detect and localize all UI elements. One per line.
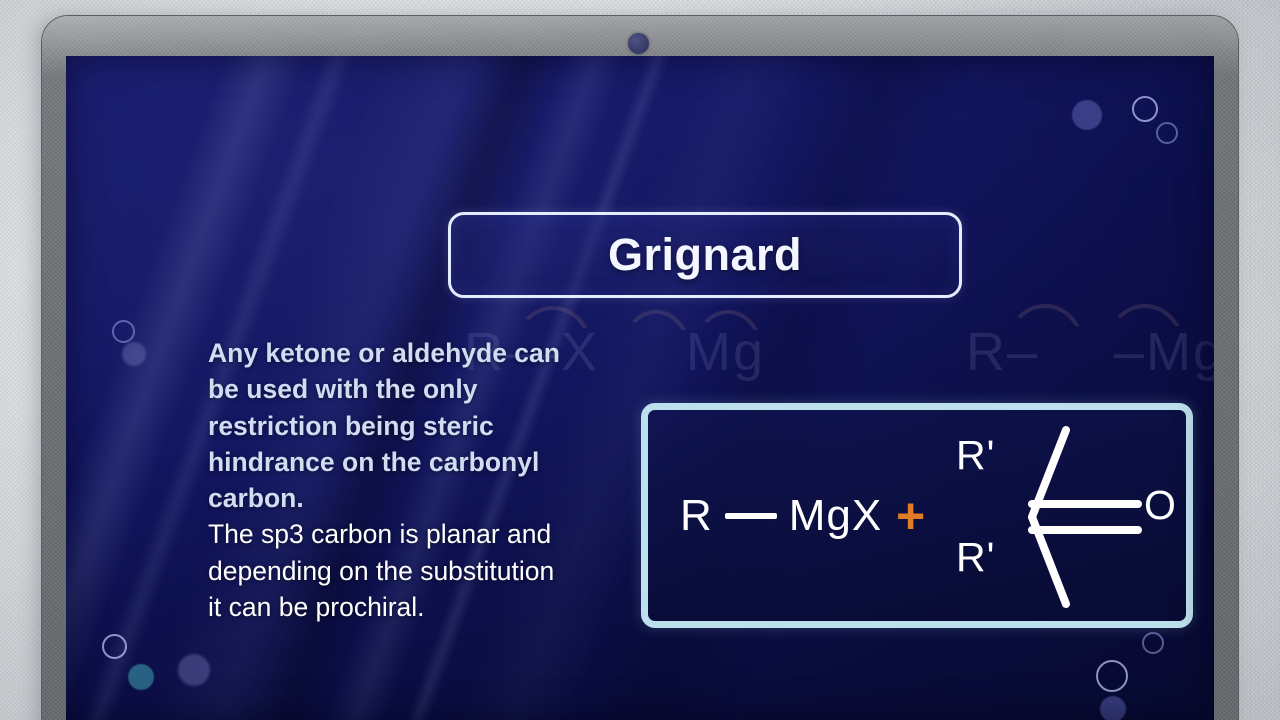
presentation-screen: R—X Mg R– –Mg Grignard Any ketone or ald… — [66, 56, 1214, 720]
substituent-bottom-label: R' — [956, 534, 995, 581]
reagent-r-label: R — [680, 491, 713, 541]
decor-circle-3 — [178, 654, 210, 686]
slide-screenshot: R—X Mg R– –Mg Grignard Any ketone or ald… — [0, 0, 1280, 720]
plus-sign: + — [896, 491, 925, 541]
decor-circle-2 — [122, 342, 146, 366]
grignard-reagent: R MgX — [680, 491, 882, 541]
decor-ring-2 — [1156, 122, 1178, 144]
webcam-icon — [628, 33, 649, 54]
oxygen-label: O — [1144, 482, 1177, 529]
decor-circle-teal — [128, 664, 154, 690]
body-text-bold: Any ketone or aldehyde can be used with … — [208, 335, 560, 516]
decor-ring-5 — [1096, 660, 1128, 692]
decor-circle-1 — [1072, 100, 1102, 130]
decor-circle-4 — [1100, 696, 1126, 720]
decor-ring-1 — [1132, 96, 1158, 122]
decor-ring-4 — [102, 634, 127, 659]
equation-panel: R MgX + R' R' — [641, 403, 1193, 628]
decor-ring-3 — [112, 320, 135, 343]
reagent-mgx-label: MgX — [789, 491, 882, 541]
decor-ring-6 — [1142, 632, 1164, 654]
page-title: Grignard — [608, 229, 802, 281]
substituent-top-label: R' — [956, 432, 995, 479]
ketone-structure: R' R' O — [948, 424, 1186, 610]
slide-title-box: Grignard — [448, 212, 962, 298]
slide-body-text: Any ketone or aldehyde can be used with … — [208, 335, 560, 625]
body-text-normal: The sp3 carbon is planar and depending o… — [208, 516, 560, 625]
bond-line-icon — [725, 513, 777, 519]
